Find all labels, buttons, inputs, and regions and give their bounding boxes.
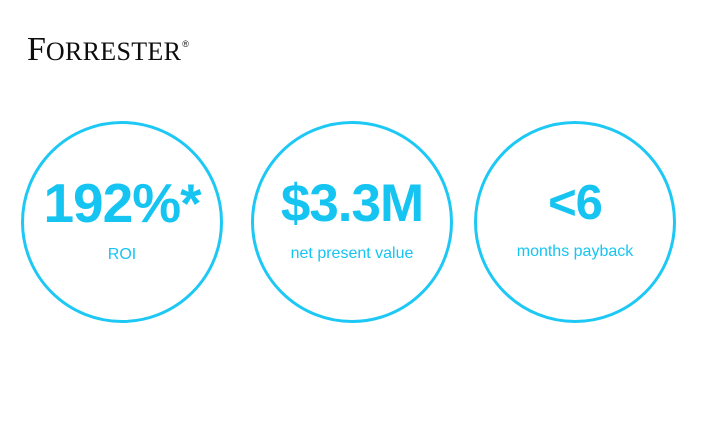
metric-circle-roi: 192%* ROI	[21, 121, 223, 323]
metric-caption: months payback	[517, 244, 634, 260]
metric-caption: net present value	[291, 246, 414, 262]
metric-value: <6	[548, 179, 602, 228]
metric-circle-net-present-value: $3.3M net present value	[251, 121, 453, 323]
metric-caption: ROI	[108, 247, 136, 263]
metrics-row: 192%* ROI $3.3M net present value <6 mon…	[0, 121, 701, 323]
metric-value: 192%*	[43, 176, 200, 231]
registered-trademark-icon: ®	[182, 39, 189, 49]
logo-wordmark: ORRESTER	[46, 37, 181, 66]
metric-circle-months-payback: <6 months payback	[474, 121, 676, 323]
metric-value: $3.3M	[281, 177, 423, 230]
logo-initial: F	[27, 31, 46, 68]
forrester-logo: FORRESTER®	[27, 33, 188, 67]
infographic-canvas: FORRESTER® 192%* ROI $3.3M net present v…	[0, 0, 701, 430]
